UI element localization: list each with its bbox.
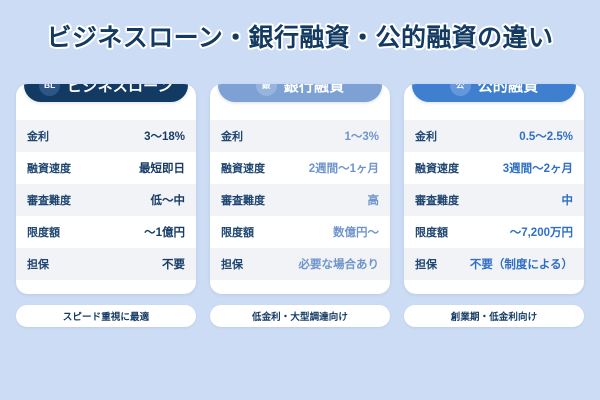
card-rows-public-loan: 金利 0.5〜2.5% 融資速度 3週間〜2ヶ月 審査難度 中 限度額 〜7,2… — [404, 120, 584, 280]
card-title-bank-loan: 銀行融資 — [284, 84, 345, 96]
card-bank-loan: 銀 銀行融資 金利 1〜3% 融資速度 2週間〜1ヶ月 審査難度 高 — [210, 84, 390, 294]
card-column-business-loan: BL ビジネスローン 金利 3〜18% 融資速度 最短即日 審査難度 低〜中 — [16, 84, 196, 327]
row-label: 審査難度 — [27, 192, 71, 208]
row-label: 担保 — [221, 256, 243, 272]
page-title: ビジネスローン・銀行融資・公的融資の違い — [47, 18, 554, 54]
row-label: 限度額 — [415, 224, 448, 240]
card-badge-icon-business-loan: BL — [39, 84, 60, 96]
row-value: 〜1億円 — [144, 224, 185, 240]
row-value: 不要 — [162, 256, 185, 272]
row-value: 数億円〜 — [333, 224, 379, 240]
card-public-loan: 公 公的融資 金利 0.5〜2.5% 融資速度 3週間〜2ヶ月 審査難度 中 — [404, 84, 584, 294]
card-column-bank-loan: 銀 銀行融資 金利 1〜3% 融資速度 2週間〜1ヶ月 審査難度 高 — [210, 84, 390, 327]
row-label: 金利 — [27, 128, 49, 144]
row-label: 担保 — [415, 256, 437, 272]
table-row: 担保 不要 — [16, 248, 196, 280]
row-value: 3〜18% — [144, 128, 185, 144]
card-business-loan: BL ビジネスローン 金利 3〜18% 融資速度 最短即日 審査難度 低〜中 — [16, 84, 196, 294]
card-footer-badge-public-loan: 創業期・低金利向け — [404, 305, 584, 327]
card-footer-label: 低金利・大型調達向け — [252, 309, 348, 323]
card-column-public-loan: 公 公的融資 金利 0.5〜2.5% 融資速度 3週間〜2ヶ月 審査難度 中 — [404, 84, 584, 327]
row-value: 中 — [562, 192, 574, 208]
card-footer-label: スピード重視に最適 — [63, 309, 149, 323]
card-rows-business-loan: 金利 3〜18% 融資速度 最短即日 審査難度 低〜中 限度額 〜1億円 — [16, 120, 196, 280]
card-footer-label: 創業期・低金利向け — [451, 309, 537, 323]
row-value: 不要（制度による） — [470, 256, 573, 272]
table-row: 担保 不要（制度による） — [404, 248, 584, 280]
row-value: 1〜3% — [344, 128, 379, 144]
card-title-public-loan: 公的融資 — [478, 84, 539, 96]
table-row: 融資速度 3週間〜2ヶ月 — [404, 152, 584, 184]
card-rows-bank-loan: 金利 1〜3% 融資速度 2週間〜1ヶ月 審査難度 高 限度額 数億円〜 — [210, 120, 390, 280]
table-row: 金利 1〜3% — [210, 120, 390, 152]
table-row: 限度額 〜7,200万円 — [404, 216, 584, 248]
comparison-cards: BL ビジネスローン 金利 3〜18% 融資速度 最短即日 審査難度 低〜中 — [16, 84, 584, 327]
card-footer-badge-bank-loan: 低金利・大型調達向け — [210, 305, 390, 327]
row-value: 0.5〜2.5% — [519, 128, 573, 144]
page-title-container: ビジネスローン・銀行融資・公的融資の違い — [0, 18, 600, 54]
table-row: 担保 必要な場合あり — [210, 248, 390, 280]
card-badge-icon-public-loan: 公 — [450, 84, 471, 96]
table-row: 限度額 〜1億円 — [16, 216, 196, 248]
table-row: 金利 0.5〜2.5% — [404, 120, 584, 152]
row-label: 金利 — [415, 128, 437, 144]
card-badge-icon-bank-loan: 銀 — [256, 84, 277, 96]
infographic-page: ビジネスローン・銀行融資・公的融資の違い BL ビジネスローン 金利 3〜18%… — [0, 0, 600, 400]
row-label: 融資速度 — [27, 160, 71, 176]
table-row: 限度額 数億円〜 — [210, 216, 390, 248]
card-title-business-loan: ビジネスローン — [67, 84, 173, 96]
row-label: 限度額 — [221, 224, 254, 240]
row-label: 審査難度 — [221, 192, 265, 208]
row-label: 担保 — [27, 256, 49, 272]
card-header-public-loan: 公 公的融資 — [412, 84, 576, 102]
row-value: 最短即日 — [139, 160, 185, 176]
row-label: 融資速度 — [221, 160, 265, 176]
row-label: 審査難度 — [415, 192, 459, 208]
table-row: 審査難度 中 — [404, 184, 584, 216]
row-value: 〜7,200万円 — [510, 224, 573, 240]
table-row: 審査難度 低〜中 — [16, 184, 196, 216]
card-header-business-loan: BL ビジネスローン — [24, 84, 188, 102]
row-value: 高 — [368, 192, 380, 208]
row-value: 3週間〜2ヶ月 — [503, 160, 573, 176]
row-value: 低〜中 — [151, 192, 186, 208]
table-row: 融資速度 2週間〜1ヶ月 — [210, 152, 390, 184]
table-row: 審査難度 高 — [210, 184, 390, 216]
row-value: 必要な場合あり — [299, 256, 380, 272]
table-row: 金利 3〜18% — [16, 120, 196, 152]
row-label: 限度額 — [27, 224, 60, 240]
row-value: 2週間〜1ヶ月 — [309, 160, 379, 176]
table-row: 融資速度 最短即日 — [16, 152, 196, 184]
card-header-bank-loan: 銀 銀行融資 — [218, 84, 382, 102]
row-label: 融資速度 — [415, 160, 459, 176]
row-label: 金利 — [221, 128, 243, 144]
card-footer-badge-business-loan: スピード重視に最適 — [16, 305, 196, 327]
